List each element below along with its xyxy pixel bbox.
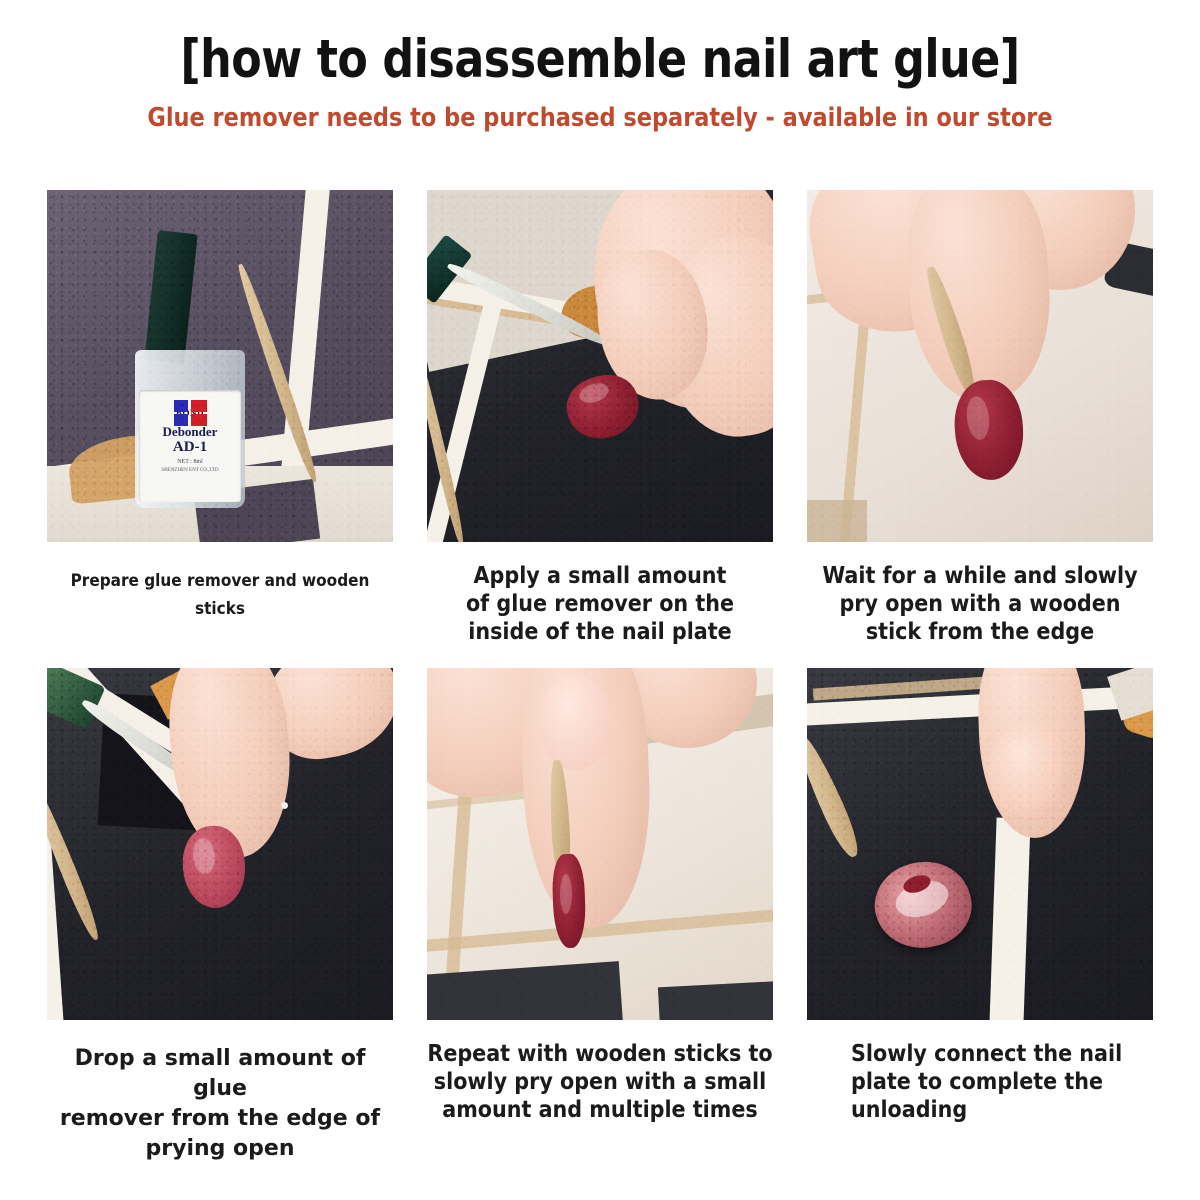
step-cell-1: BOND Debonder AD-1 NET : 8ml SHENZHEN EN… <box>47 190 393 646</box>
stripe-vertical <box>989 817 1030 1020</box>
step-cell-6: Slowly connect the nail plate to complet… <box>807 668 1153 1164</box>
step-photo-6[interactable] <box>807 668 1153 1020</box>
step-cell-5: Repeat with wooden sticks to slowly pry … <box>427 668 773 1164</box>
tan-patch-corner <box>807 500 867 542</box>
finger-nail-bed <box>539 674 611 770</box>
step-caption-3: Wait for a while and slowly pry open wit… <box>807 562 1153 646</box>
step-cell-3: Wait for a while and slowly pry open wit… <box>807 190 1153 646</box>
bottle-product-name: Debonder <box>139 425 241 438</box>
step-caption-6: Slowly connect the nail plate to complet… <box>807 1040 1153 1124</box>
page-header: [how to disassemble nail art glue] Glue … <box>0 0 1200 135</box>
step-cell-4: Drop a small amount of glue remover from… <box>47 668 393 1164</box>
page-subtitle: Glue remover needs to be purchased separ… <box>24 101 1176 135</box>
step-caption-4: Drop a small amount of glue remover from… <box>47 1044 393 1164</box>
step-photo-1[interactable]: BOND Debonder AD-1 NET : 8ml SHENZHEN EN… <box>47 190 393 542</box>
step-photo-3[interactable] <box>807 190 1153 542</box>
step-photo-2[interactable] <box>427 190 773 542</box>
bottle-label: BOND Debonder AD-1 NET : 8ml SHENZHEN EN… <box>139 390 241 502</box>
steps-grid: BOND Debonder AD-1 NET : 8ml SHENZHEN EN… <box>0 190 1200 1164</box>
step-photo-5[interactable] <box>427 668 773 1020</box>
bare-nail <box>989 724 1067 820</box>
step-caption-2: Apply a small amount of glue remover on … <box>427 562 773 646</box>
bottle-manufacturer: SHENZHEN ENT CO.,LTD <box>139 468 241 473</box>
step-photo-4[interactable] <box>47 668 393 1020</box>
nail-highlight <box>560 874 572 914</box>
step-cell-2: Apply a small amount of glue remover on … <box>427 190 773 646</box>
step-caption-1: Prepare glue remover and wooden sticks <box>47 567 393 623</box>
bottle-model: AD-1 <box>139 440 241 455</box>
white-speck <box>281 802 288 809</box>
dark-patch-bottom-right <box>658 981 773 1020</box>
step-caption-5: Repeat with wooden sticks to slowly pry … <box>427 1040 773 1124</box>
page-title: [how to disassemble nail art glue] <box>42 30 1158 90</box>
bottle-volume: NET : 8ml <box>139 459 241 465</box>
